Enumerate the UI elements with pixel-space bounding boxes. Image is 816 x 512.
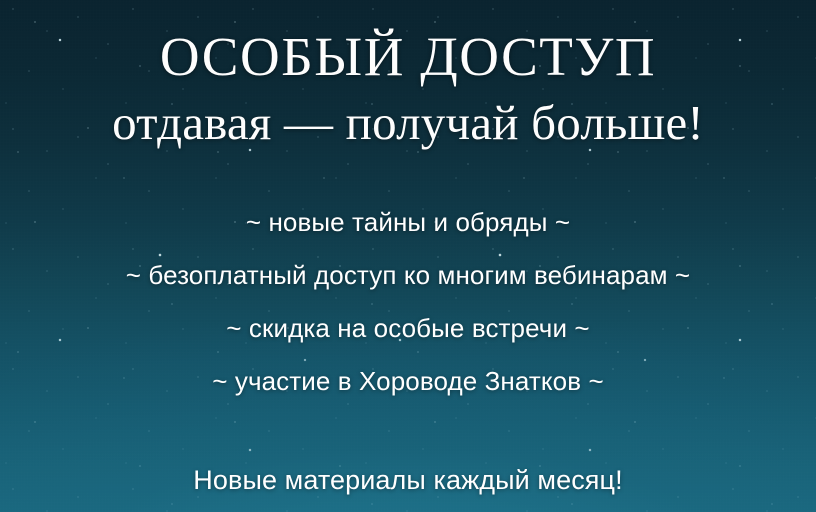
list-item: ~ участие в Хороводе Знатков ~ — [0, 355, 816, 408]
list-item: ~ новые тайны и обряды ~ — [0, 196, 816, 249]
footnote-text: Новые материалы каждый месяц! — [0, 463, 816, 497]
page-title: ОСОБЫЙ ДОСТУП — [0, 28, 816, 86]
list-item: ~ скидка на особые встречи ~ — [0, 302, 816, 355]
poster-content: ОСОБЫЙ ДОСТУП отдавая — получай больше! … — [0, 0, 816, 512]
benefits-list: ~ новые тайны и обряды ~ ~ безоплатный д… — [0, 196, 816, 408]
promo-poster: ОСОБЫЙ ДОСТУП отдавая — получай больше! … — [0, 0, 816, 512]
list-item: ~ безоплатный доступ ко многим вебинарам… — [0, 249, 816, 302]
page-subtitle: отдавая — получай больше! — [0, 97, 816, 148]
